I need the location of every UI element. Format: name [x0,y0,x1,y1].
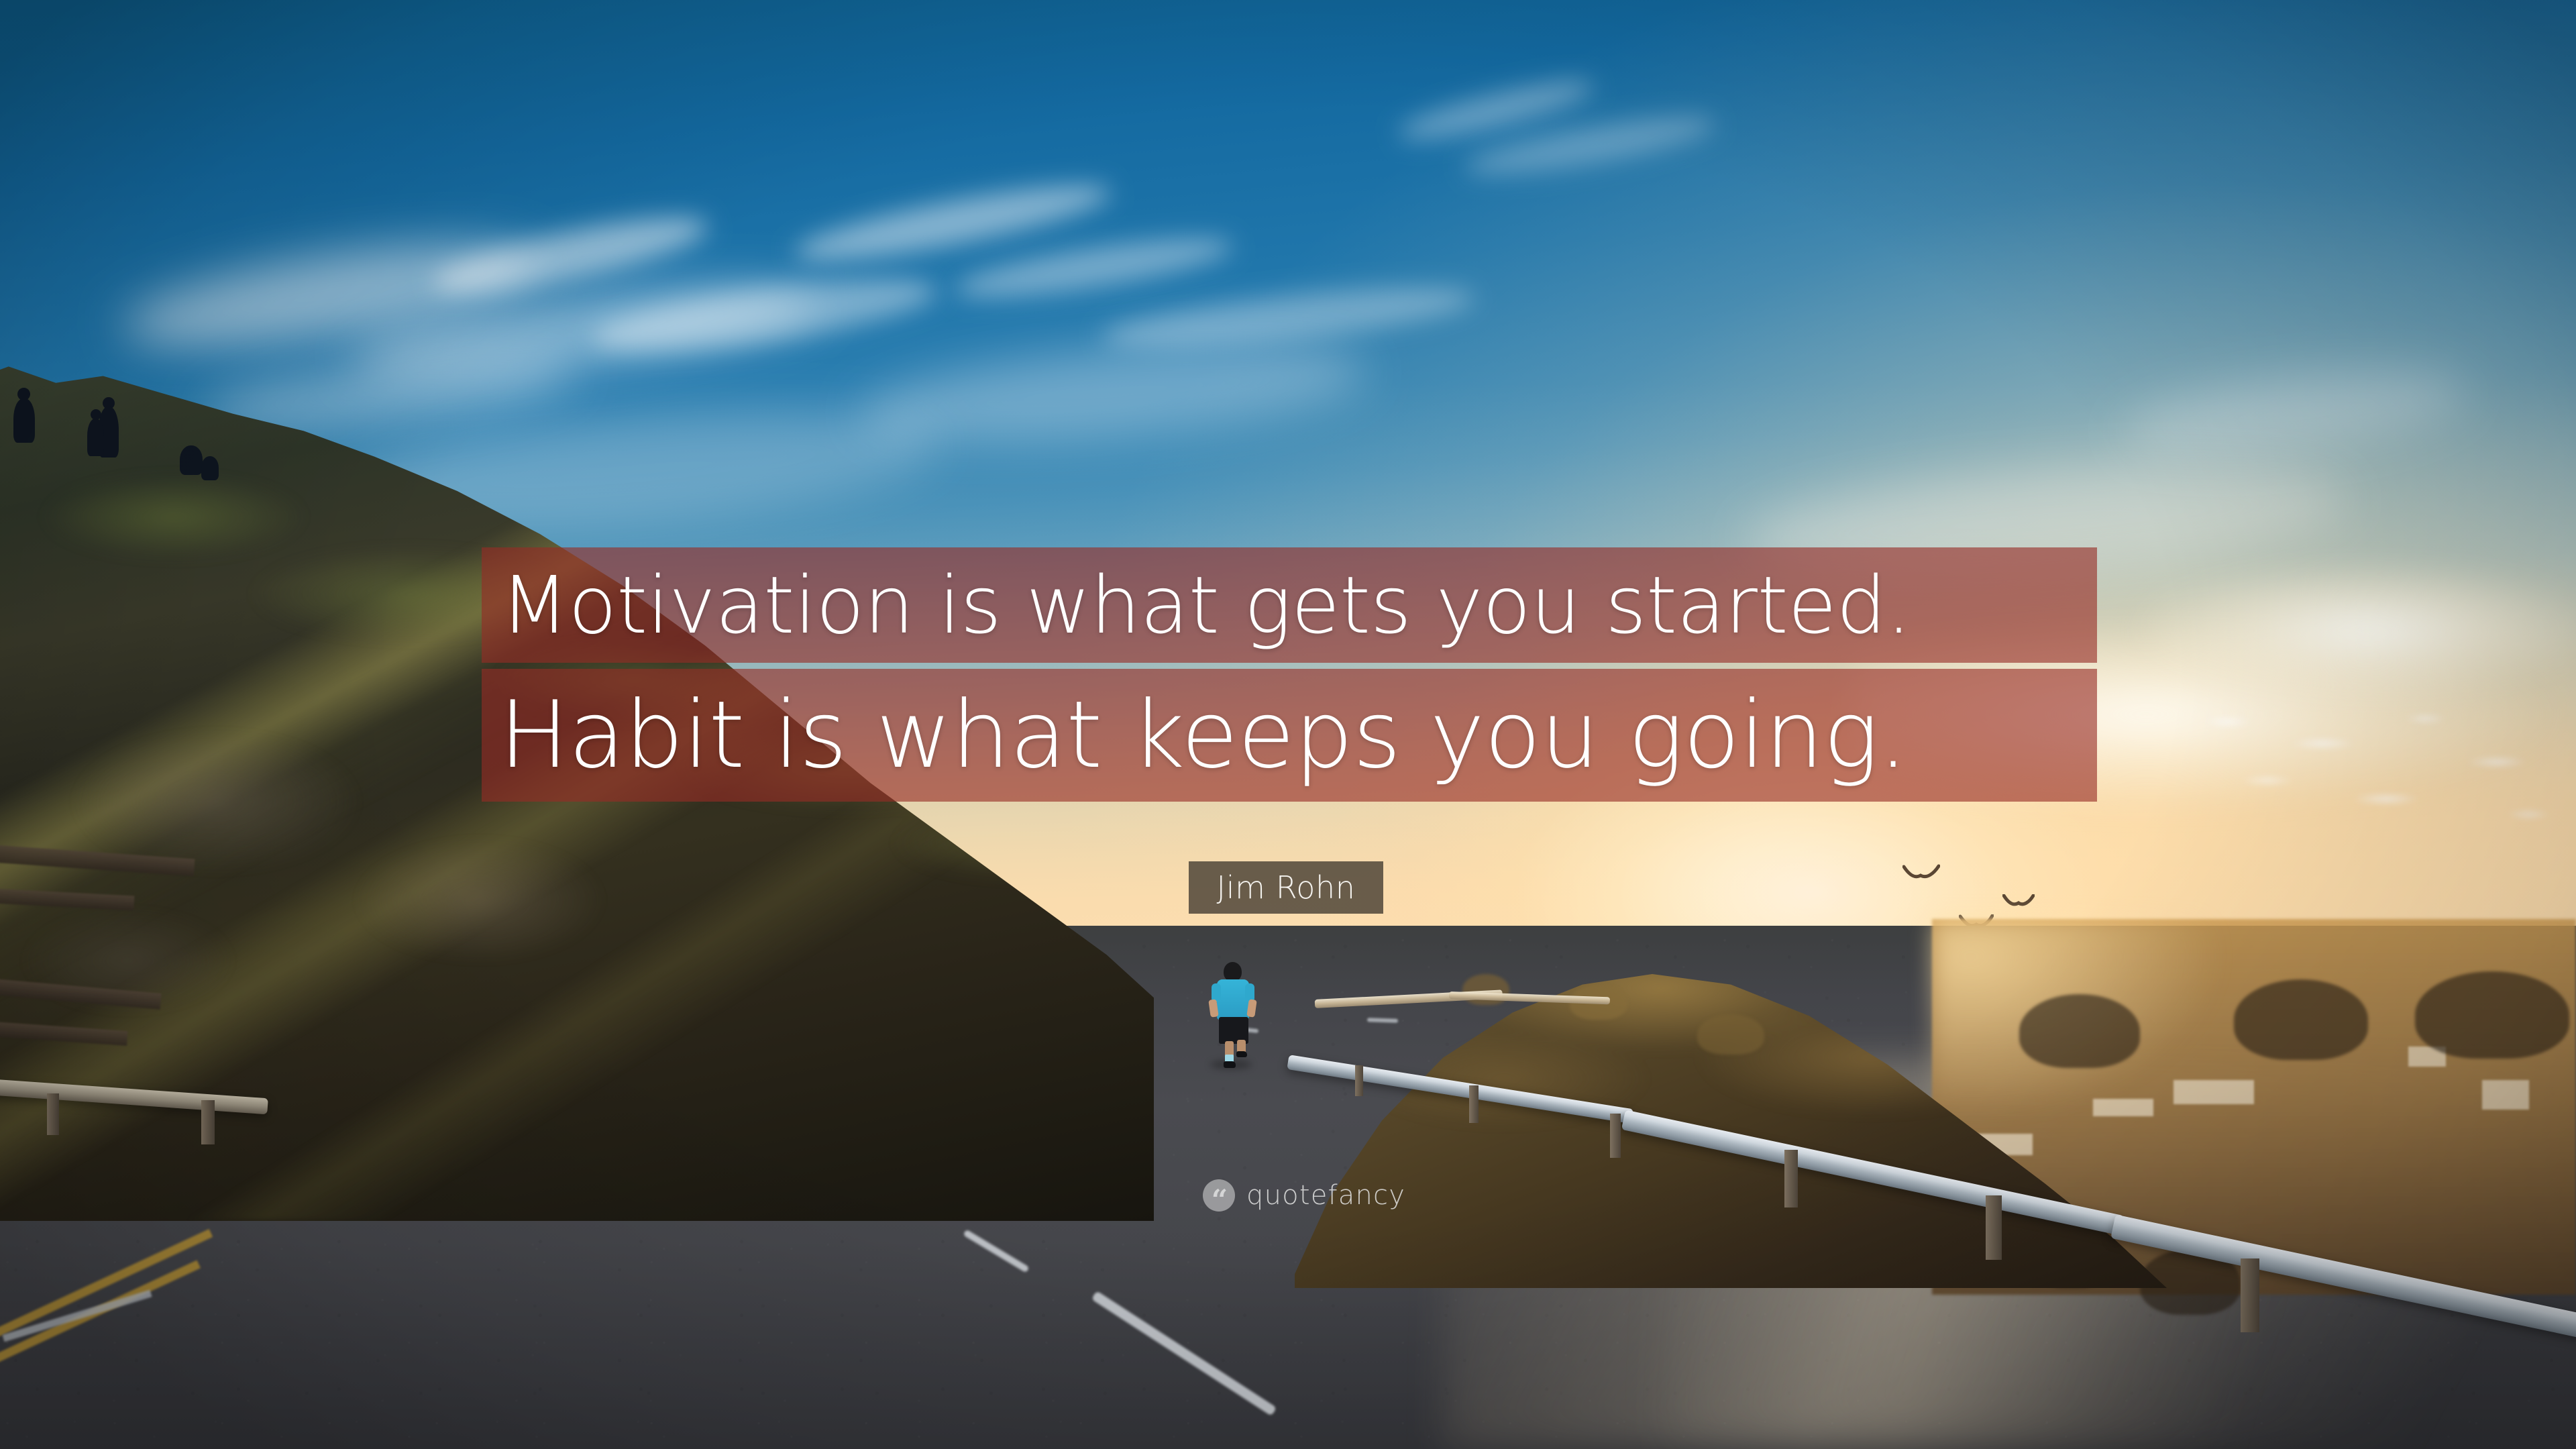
cloud-bank [2133,550,2576,711]
runner-arm [1246,999,1257,1017]
guardrail-post [1355,1065,1363,1096]
distant-tree [2019,994,2140,1068]
runner-shoe [1236,1051,1247,1057]
hiker-silhouette [201,456,219,480]
author-name: Jim Rohn [1217,869,1356,906]
bird-icon [1902,864,1940,886]
distant-building [2173,1080,2254,1104]
guardrail-post [1469,1085,1479,1123]
quotefancy-watermark[interactable]: “ quotefancy [1203,1179,1405,1212]
bird-icon [2002,894,2035,914]
runner-head [1224,962,1242,981]
quote-image-canvas: Motivation is what gets you started. Hab… [0,0,2576,1449]
hiker-silhouette [180,445,203,475]
quote-banner-line-2: Habit is what keeps you going. [482,669,2097,802]
guardrail-post [201,1100,215,1144]
author-chip: Jim Rohn [1189,861,1383,914]
quote-banner-line-1: Motivation is what gets you started. [482,547,2097,663]
runner-shoe [1224,1061,1236,1068]
hiker-silhouette [87,419,104,456]
hiker-silhouette [13,398,35,443]
quote-mark-icon: “ [1203,1179,1235,1212]
guardrail-post [2241,1258,2259,1332]
distant-tree [2234,979,2368,1060]
guardrail-post [1610,1114,1621,1158]
guardrail-post [47,1093,59,1135]
distant-building [2093,1099,2153,1116]
quote-line-1-text: Motivation is what gets you started. [482,566,1911,645]
runner-figure [1207,962,1261,1069]
quote-line-2-text: Habit is what keeps you going. [482,689,1908,782]
brand-name: quotefancy [1246,1180,1405,1211]
altocumulus-speckle-clouds [2180,691,2576,845]
guardrail-post [1784,1150,1798,1207]
guardrail-post [1986,1195,2002,1260]
runner-shirt [1217,979,1249,1020]
distant-tree [2415,971,2569,1059]
grass-tuft [1697,1014,1764,1055]
distant-building [2482,1080,2529,1110]
